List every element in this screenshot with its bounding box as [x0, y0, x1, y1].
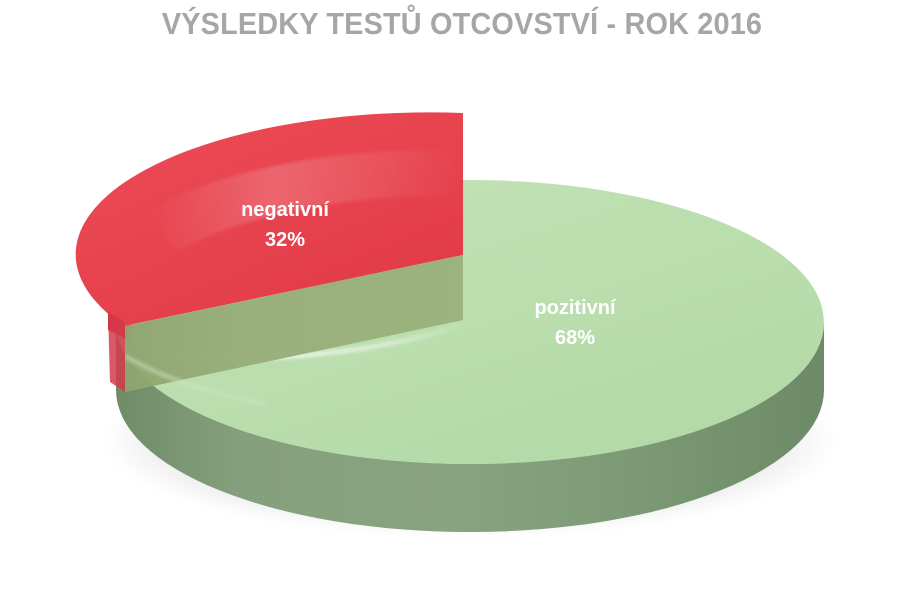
pie-chart: VÝSLEDKY TESTŮ OTCOVSTVÍ - ROK 2016	[0, 0, 924, 602]
red-sliver-left	[108, 312, 125, 392]
pie-graphic	[0, 0, 924, 602]
